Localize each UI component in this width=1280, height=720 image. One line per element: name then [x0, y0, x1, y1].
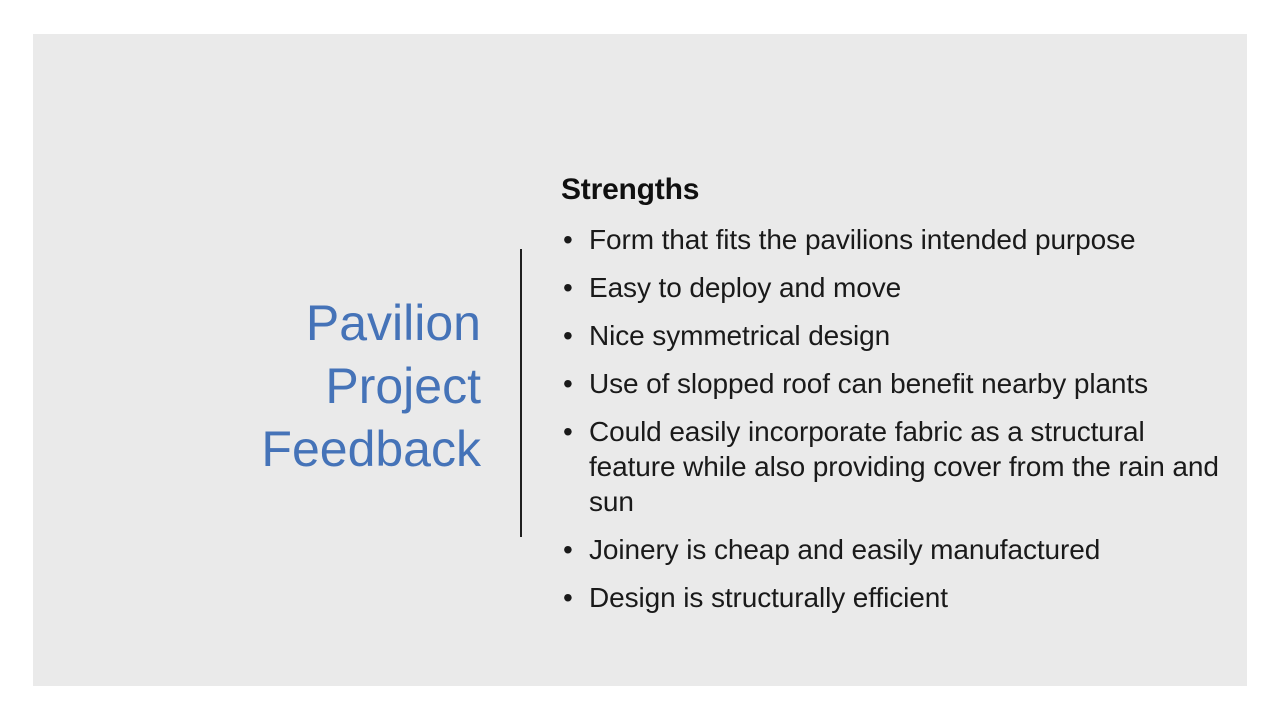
title-line-3: Feedback: [93, 418, 481, 481]
list-item-text: Joinery is cheap and easily manufactured: [589, 532, 1233, 567]
bullet-point-icon: •: [563, 366, 581, 401]
list-item: • Joinery is cheap and easily manufactur…: [561, 532, 1233, 567]
slide-canvas: Pavilion Project Feedback Strengths • Fo…: [0, 0, 1280, 720]
list-item-text: Could easily incorporate fabric as a str…: [589, 414, 1233, 519]
list-item: • Form that fits the pavilions intended …: [561, 222, 1233, 257]
list-item: • Easy to deploy and move: [561, 270, 1233, 305]
title-line-1: Pavilion: [93, 292, 481, 355]
content-body: Strengths • Form that fits the pavilions…: [561, 172, 1233, 615]
list-item: • Could easily incorporate fabric as a s…: [561, 414, 1233, 519]
bullet-point-icon: •: [563, 532, 581, 567]
slide-title: Pavilion Project Feedback: [93, 292, 481, 481]
list-item: • Design is structurally efficient: [561, 580, 1233, 615]
bullet-point-icon: •: [563, 580, 581, 615]
list-item-text: Form that fits the pavilions intended pu…: [589, 222, 1233, 257]
bullet-point-icon: •: [563, 414, 581, 449]
vertical-divider: [520, 249, 522, 537]
bullet-point-icon: •: [563, 270, 581, 305]
list-item-text: Design is structurally efficient: [589, 580, 1233, 615]
slide-content-area: Pavilion Project Feedback Strengths • Fo…: [33, 34, 1247, 686]
list-item-text: Nice symmetrical design: [589, 318, 1233, 353]
title-line-2: Project: [93, 355, 481, 418]
bullet-point-icon: •: [563, 222, 581, 257]
bullet-point-icon: •: [563, 318, 581, 353]
list-item-text: Easy to deploy and move: [589, 270, 1233, 305]
strengths-bullet-list: • Form that fits the pavilions intended …: [561, 222, 1233, 615]
section-heading-strengths: Strengths: [561, 172, 1233, 208]
list-item-text: Use of slopped roof can benefit nearby p…: [589, 366, 1233, 401]
list-item: • Nice symmetrical design: [561, 318, 1233, 353]
list-item: • Use of slopped roof can benefit nearby…: [561, 366, 1233, 401]
